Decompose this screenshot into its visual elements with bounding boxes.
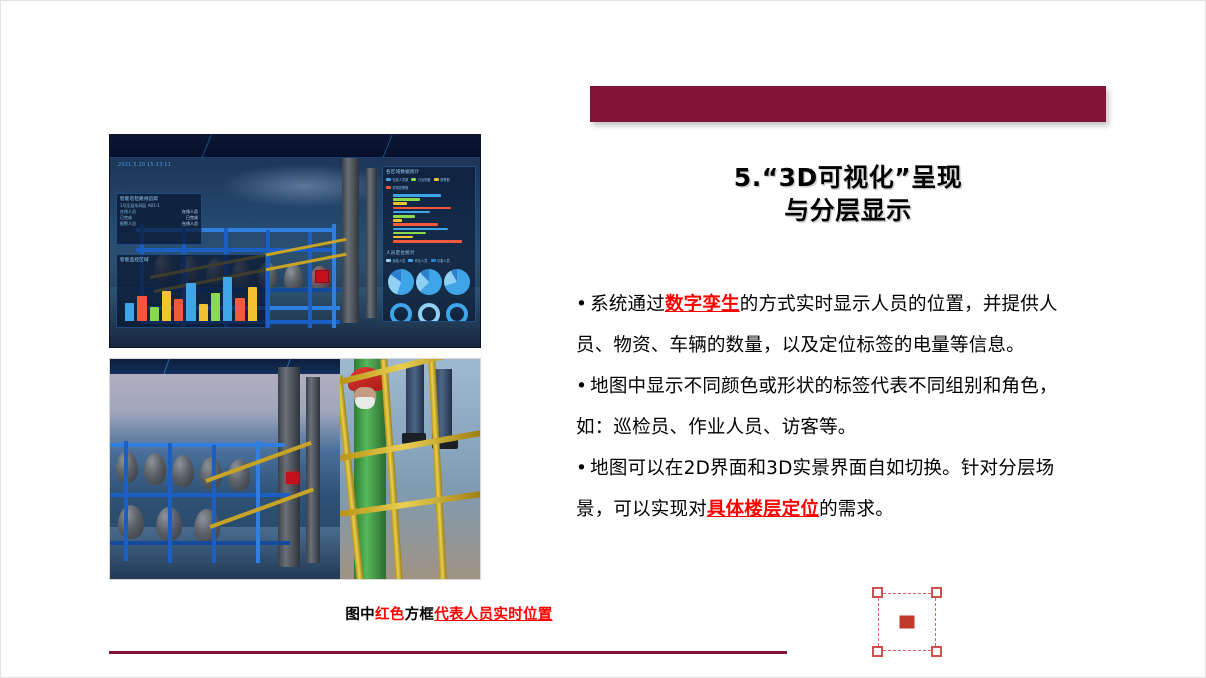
bullet-segment: 地图中显示不同颜色或形状的标签代表不同组别和角色，如：巡检员、作业人员、访客等。 (576, 376, 1058, 438)
steel-column (168, 443, 172, 563)
legend-label: 异常告警数 (393, 185, 409, 190)
steel-beam (110, 541, 290, 545)
red-rectangle-shape[interactable] (900, 616, 915, 629)
bar (393, 211, 430, 214)
bullet-segment: 系统通过 (590, 294, 665, 315)
bar (199, 304, 208, 321)
red-location-marker[interactable] (315, 270, 329, 283)
bar (393, 240, 462, 243)
slide-canvas: 智能巡检路线追踪 1号压延车间区 A01-1 在线人员 在线人员 已完成 已完成 (0, 0, 1206, 678)
tank (284, 264, 303, 291)
pie-chart (416, 269, 442, 295)
vertical-bar-chart (125, 273, 257, 321)
panel-subtitle: 人员定位统计 (383, 248, 475, 257)
donut-chart-group (383, 297, 475, 322)
bar (393, 202, 407, 205)
bar (186, 283, 195, 321)
legend-item: 在线人员数 (386, 177, 408, 182)
list-item: •系统通过数字孪生的方式实时显示人员的位置，并提供人员、物资、车辆的数量，以及定… (576, 284, 1091, 366)
pillar (306, 377, 320, 563)
panel-title: 智能巡检路线追踪 (117, 194, 201, 203)
legend-item: 已出勤数 (411, 177, 430, 182)
positioning-system-screenshot[interactable]: 智能巡检路线追踪 1号压延车间区 A01-1 在线人员 在线人员 已完成 已完成 (109, 134, 481, 348)
pie-chart-group (383, 265, 475, 297)
panel-patrol-tracking[interactable]: 智能巡检路线追踪 1号压延车间区 A01-1 在线人员 在线人员 已完成 已完成 (116, 193, 202, 245)
caption-part-4: 代表人员实时位置 (434, 607, 552, 623)
pillar (278, 367, 300, 567)
legend-label: 报警数 (440, 177, 450, 182)
bar (174, 299, 183, 321)
timestamp: 2021.5.20 15:23:11 (118, 162, 171, 168)
bar (393, 232, 426, 235)
legend-item: 作业人员 (408, 258, 427, 263)
pie-chart (444, 269, 470, 295)
render-topbar (110, 359, 342, 374)
bar (393, 236, 413, 239)
horizontal-bar-chart (383, 192, 475, 246)
bar (137, 296, 146, 321)
bullet-marker: • (576, 376, 587, 397)
media-column: 智能巡检路线追踪 1号压延车间区 A01-1 在线人员 在线人员 已完成 已完成 (109, 134, 481, 580)
bar (125, 303, 134, 321)
bar (393, 223, 438, 226)
panel-row: 报警人员 在线人员 (117, 221, 201, 227)
pie-chart (388, 269, 414, 295)
sky-glow (221, 164, 388, 208)
bullet-list: •系统通过数字孪生的方式实时显示人员的位置，并提供人员、物资、车辆的数量，以及定… (576, 284, 1091, 530)
chart-legend: 在线人员数 已出勤数 报警数 异常告警数 (383, 176, 475, 192)
resize-handle-bottom-left[interactable] (872, 646, 883, 657)
selected-shape-group[interactable] (878, 593, 936, 651)
bar (393, 207, 451, 210)
photo-real-site (340, 359, 480, 579)
legend-label: 在线人员数 (393, 177, 409, 182)
bar (248, 287, 257, 321)
legend-label: 作业人员 (415, 258, 428, 263)
bullet-marker: • (576, 458, 587, 479)
steel-beam (110, 493, 290, 497)
photo-3d-render (110, 359, 342, 579)
resize-handle-top-right[interactable] (931, 587, 942, 598)
caption-part-2: 红色 (375, 607, 405, 623)
red-location-marker[interactable] (286, 472, 299, 484)
tank (118, 505, 144, 539)
bar (393, 219, 402, 222)
bottom-divider (109, 651, 787, 654)
bar (393, 228, 448, 231)
worker-leg (406, 363, 424, 437)
site-photo-composite[interactable] (109, 358, 481, 580)
legend-label: 已出勤数 (418, 177, 431, 182)
panel-row-value: 在线人员 (182, 221, 198, 227)
donut-chart (418, 303, 440, 322)
bar (235, 298, 244, 321)
legend-label: 访客人员 (437, 258, 450, 263)
page-title-line-2: 与分层显示 (590, 194, 1106, 227)
legend-item: 异常告警数 (386, 185, 408, 190)
page-title: 5.“3D可视化”呈现 与分层显示 (590, 161, 1106, 227)
donut-chart (390, 303, 412, 322)
legend-item: 访客人员 (431, 258, 450, 263)
tank (172, 455, 194, 487)
steel-column (266, 230, 270, 328)
app-topbar (110, 135, 480, 158)
bar (393, 198, 420, 201)
bullet-highlight: 数字孪生 (665, 294, 740, 315)
bar (223, 277, 232, 321)
bar (393, 194, 441, 197)
steel-column (124, 441, 128, 561)
header-banner (590, 86, 1106, 122)
panel-title: 各区域数据统计 (383, 167, 475, 176)
page-title-line-1: 5.“3D可视化”呈现 (590, 161, 1106, 194)
pillar (366, 168, 377, 318)
list-item: •地图可以在2D界面和3D实景界面自如切换。针对分层场景，可以实现对具体楼层定位… (576, 448, 1091, 530)
bullet-segment: 的需求。 (819, 499, 894, 520)
bar (162, 291, 171, 321)
bar (150, 307, 159, 321)
resize-handle-bottom-right[interactable] (931, 646, 942, 657)
resize-handle-top-left[interactable] (872, 587, 883, 598)
panel-title: 智能监控区域 (117, 255, 265, 264)
bar (211, 293, 220, 321)
bullet-highlight: 具体楼层定位 (707, 499, 819, 520)
legend-item: 报警数 (434, 177, 450, 182)
caption-part-3: 方框 (405, 607, 435, 623)
panel-row-key: 报警人员 (120, 221, 136, 227)
tank (144, 453, 166, 485)
legend-item: 巡检人员 (386, 258, 405, 263)
bullet-marker: • (576, 294, 587, 315)
chart-legend-secondary: 巡检人员 作业人员 访客人员 (383, 257, 475, 265)
panel-monitoring-area[interactable]: 智能监控区域 (116, 254, 266, 328)
3d-scene: 智能巡检路线追踪 1号压延车间区 A01-1 在线人员 在线人员 已完成 已完成 (110, 158, 480, 348)
panel-area-statistics[interactable]: 各区域数据统计 在线人员数 已出勤数 报警数 异常告警数 (382, 166, 476, 322)
image-caption: 图中红色方框代表人员实时位置 (109, 603, 789, 624)
donut-chart (446, 303, 468, 322)
caption-part-1: 图中 (345, 607, 375, 623)
bar (393, 215, 415, 218)
list-item: •地图中显示不同颜色或形状的标签代表不同组别和角色，如：巡检员、作业人员、访客等… (576, 366, 1091, 448)
legend-label: 巡检人员 (393, 258, 406, 263)
steel-column (212, 445, 216, 563)
